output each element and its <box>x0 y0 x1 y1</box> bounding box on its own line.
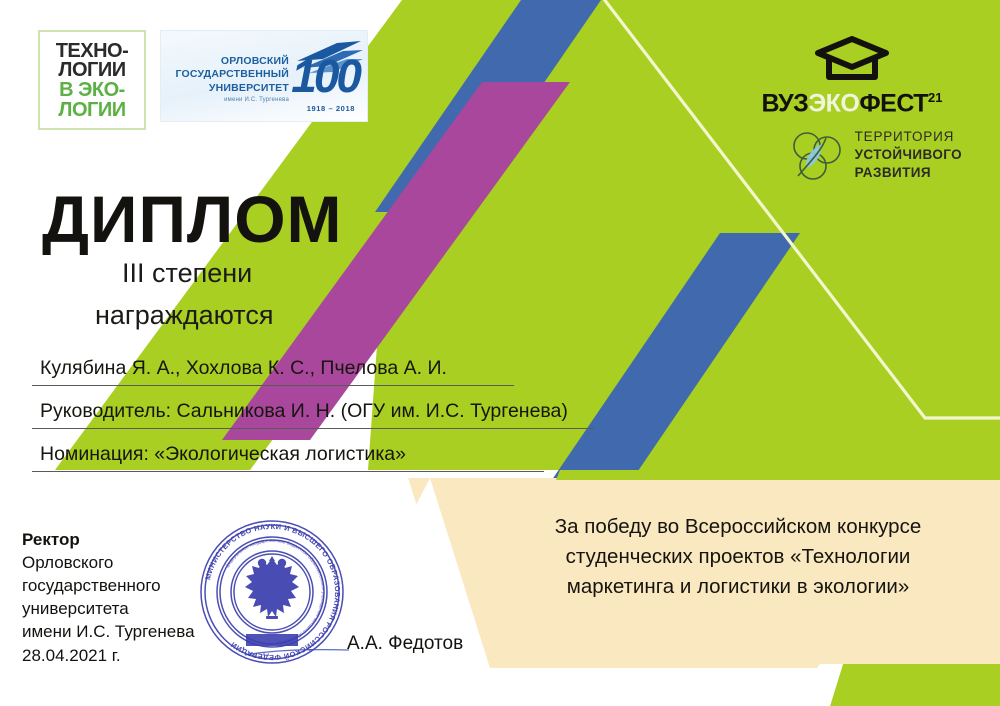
signatory-org-line2: государственного <box>22 574 195 597</box>
award-reason-line2: студенческих проектов «Технологии <box>508 542 968 572</box>
supervisor-field: Руководитель: Сальникова И. Н. (ОГУ им. … <box>32 400 594 429</box>
header-logos: ТЕХНО- ЛОГИИ В ЭКО- ЛОГИИ ОРЛОВСКИЙ ГОСУ… <box>38 30 368 130</box>
signatory-org-line4: имени И.С. Тургенева <box>22 620 195 643</box>
territory-line2: УСТОЙЧИВОГО <box>855 146 962 164</box>
ogu-anniversary-years: 1918 – 2018 <box>307 104 355 113</box>
ogu-line3: УНИВЕРСИТЕТ <box>169 82 289 95</box>
signatory-org-line1: Орловского <box>22 551 195 574</box>
signatory-org-line3: университета <box>22 597 195 620</box>
signatory-name: А.А. Федотов <box>347 633 463 655</box>
ogu-name-lines: ОРЛОВСКИЙ ГОСУДАРСТВЕННЫЙ УНИВЕРСИТЕТ <box>169 55 289 95</box>
official-round-seal: МИНИСТЕРСТВО НАУКИ И ВЫСШЕГО ОБРАЗОВАНИЯ… <box>196 516 348 668</box>
awarded-label: награждаются <box>95 300 273 331</box>
territory-line3: РАЗВИТИЯ <box>855 164 962 182</box>
award-reason-line3: маркетинга и логистики в экологии» <box>508 572 968 602</box>
vuz-part2: ЭКО <box>808 89 859 117</box>
sustainable-development-territory-logo: ТЕРРИТОРИЯ УСТОЙЧИВОГО РАЗВИТИЯ <box>788 126 962 184</box>
award-reason-line1: За победу во Всероссийском конкурсе <box>508 512 968 542</box>
vuzecofest-wordmark: ВУЗЭКОФЕСТ21 <box>742 91 962 116</box>
diploma-degree: III степени <box>122 258 252 289</box>
tech-eco-line4: ЛОГИИ <box>58 101 125 121</box>
vuz-part3: ФЕСТ <box>859 89 928 117</box>
green-band-bottom <box>830 664 1000 706</box>
russian-double-headed-eagle <box>245 556 299 619</box>
ogu-line2: ГОСУДАРСТВЕННЫЙ <box>169 68 289 81</box>
signatory-date: 28.04.2021 г. <box>22 644 195 667</box>
ogu-line1: ОРЛОВСКИЙ <box>169 55 289 68</box>
three-circles-leaf-icon <box>788 126 846 184</box>
seal-inner-bar <box>246 634 298 646</box>
tech-in-ecology-logo: ТЕХНО- ЛОГИИ В ЭКО- ЛОГИИ <box>38 30 146 130</box>
page-title: ДИПЛОМ <box>42 186 343 252</box>
vuz-part1: ВУЗ <box>761 89 808 117</box>
territory-text-block: ТЕРРИТОРИЯ УСТОЙЧИВОГО РАЗВИТИЯ <box>855 128 962 181</box>
award-reason-text: За победу во Всероссийском конкурсе студ… <box>508 512 968 602</box>
recipients-field: Кулябина Я. А., Хохлова К. С., Пчелова А… <box>32 357 514 386</box>
signatory-block: Ректор Орловского государственного униве… <box>22 528 195 667</box>
orel-state-university-logo: ОРЛОВСКИЙ ГОСУДАРСТВЕННЫЙ УНИВЕРСИТЕТ им… <box>160 30 368 122</box>
green-sliver <box>556 470 1000 480</box>
signatory-role: Ректор <box>22 528 195 551</box>
ogu-anniversary-number: 100 <box>291 53 359 99</box>
graduation-cap-icon <box>815 36 889 82</box>
ogu-subtitle: имени И.С. Тургенева <box>169 97 289 103</box>
vuzecofest-logo: ВУЗЭКОФЕСТ21 <box>742 36 962 116</box>
nomination-field: Номинация: «Экологическая логистика» <box>32 443 544 472</box>
territory-line1: ТЕРРИТОРИЯ <box>855 128 962 146</box>
diploma-certificate: ТЕХНО- ЛОГИИ В ЭКО- ЛОГИИ ОРЛОВСКИЙ ГОСУ… <box>0 0 1000 706</box>
vuz-year-superscript: 21 <box>928 90 942 105</box>
tech-eco-line3: В ЭКО- <box>59 81 125 101</box>
